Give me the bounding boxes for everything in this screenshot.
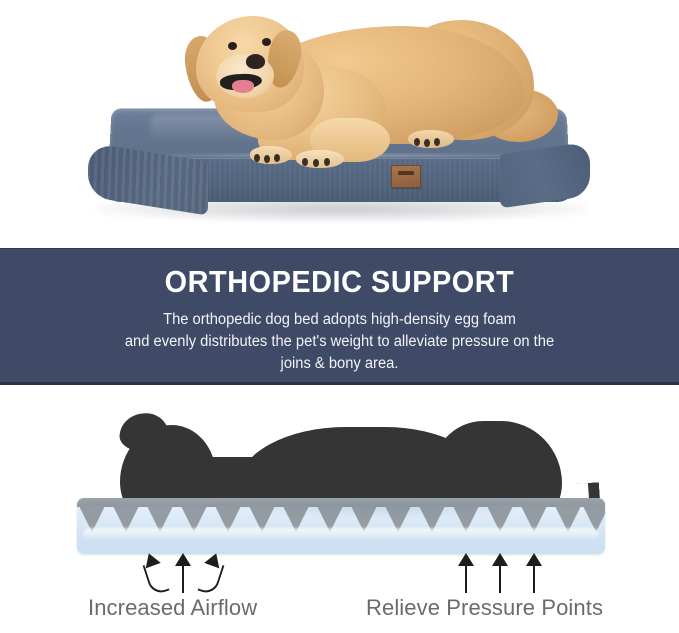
dog-eye-left xyxy=(228,42,237,50)
banner-title: ORTHOPEDIC SUPPORT xyxy=(24,249,655,300)
paw-toe xyxy=(324,158,330,166)
infographic-page: ORTHOPEDIC SUPPORT The orthopedic dog be… xyxy=(0,0,679,633)
diagram-captions: Increased Airflow Relieve Pressure Point… xyxy=(0,595,679,633)
airflow-arrow-center xyxy=(172,553,194,593)
paw-toe xyxy=(434,138,440,146)
dog-front-paw-right xyxy=(296,150,344,168)
paw-toe xyxy=(254,154,260,162)
paw-toe xyxy=(313,159,319,167)
banner-subtitle-line-1: The orthopedic dog bed adopts high-densi… xyxy=(55,309,624,331)
arrow-shaft xyxy=(142,560,169,596)
paw-toe xyxy=(264,155,270,163)
arrow-shaft xyxy=(465,562,467,593)
caption-increased-airflow: Increased Airflow xyxy=(88,595,257,621)
pressure-arrow-3 xyxy=(523,553,545,593)
silhouette-ear xyxy=(118,411,170,456)
banner-subtitle-line-3: joins & bony area. xyxy=(55,353,624,375)
orthopedic-support-banner: ORTHOPEDIC SUPPORT The orthopedic dog be… xyxy=(0,248,679,385)
arrow-shaft xyxy=(533,562,535,593)
paw-toe xyxy=(424,139,430,147)
arrow-shaft xyxy=(197,560,224,596)
banner-subtitle-line-2: and evenly distributes the pet's weight … xyxy=(55,331,624,353)
paw-toe xyxy=(302,158,308,166)
dog-nose xyxy=(246,54,265,69)
airflow-arrows xyxy=(0,553,679,599)
arrow-shaft xyxy=(499,562,501,593)
airflow-pressure-diagram: Increased Airflow Relieve Pressure Point… xyxy=(0,385,679,633)
pressure-arrow-1 xyxy=(455,553,477,593)
arrow-shaft xyxy=(182,562,184,593)
mattress-gloss xyxy=(83,528,599,541)
product-photo-stage xyxy=(0,0,679,248)
banner-subtitle: The orthopedic dog bed adopts high-densi… xyxy=(17,300,662,375)
caption-relieve-pressure-points: Relieve Pressure Points xyxy=(366,595,603,621)
paw-toe xyxy=(414,138,420,146)
airflow-arrow-right xyxy=(200,553,222,593)
egg-foam-mattress xyxy=(77,498,605,554)
mattress-compression-shadow xyxy=(217,502,547,518)
dog-tongue xyxy=(232,80,254,93)
airflow-arrow-left xyxy=(143,553,165,593)
product-photo xyxy=(0,0,679,248)
diagram-stage: Increased Airflow Relieve Pressure Point… xyxy=(0,385,679,585)
dog-eye-right xyxy=(262,38,271,46)
dog-rear-paw xyxy=(408,130,454,148)
dog-photo xyxy=(150,2,550,180)
pressure-arrow-2 xyxy=(489,553,511,593)
paw-toe xyxy=(274,154,280,162)
dog-front-paw-left xyxy=(250,146,292,164)
